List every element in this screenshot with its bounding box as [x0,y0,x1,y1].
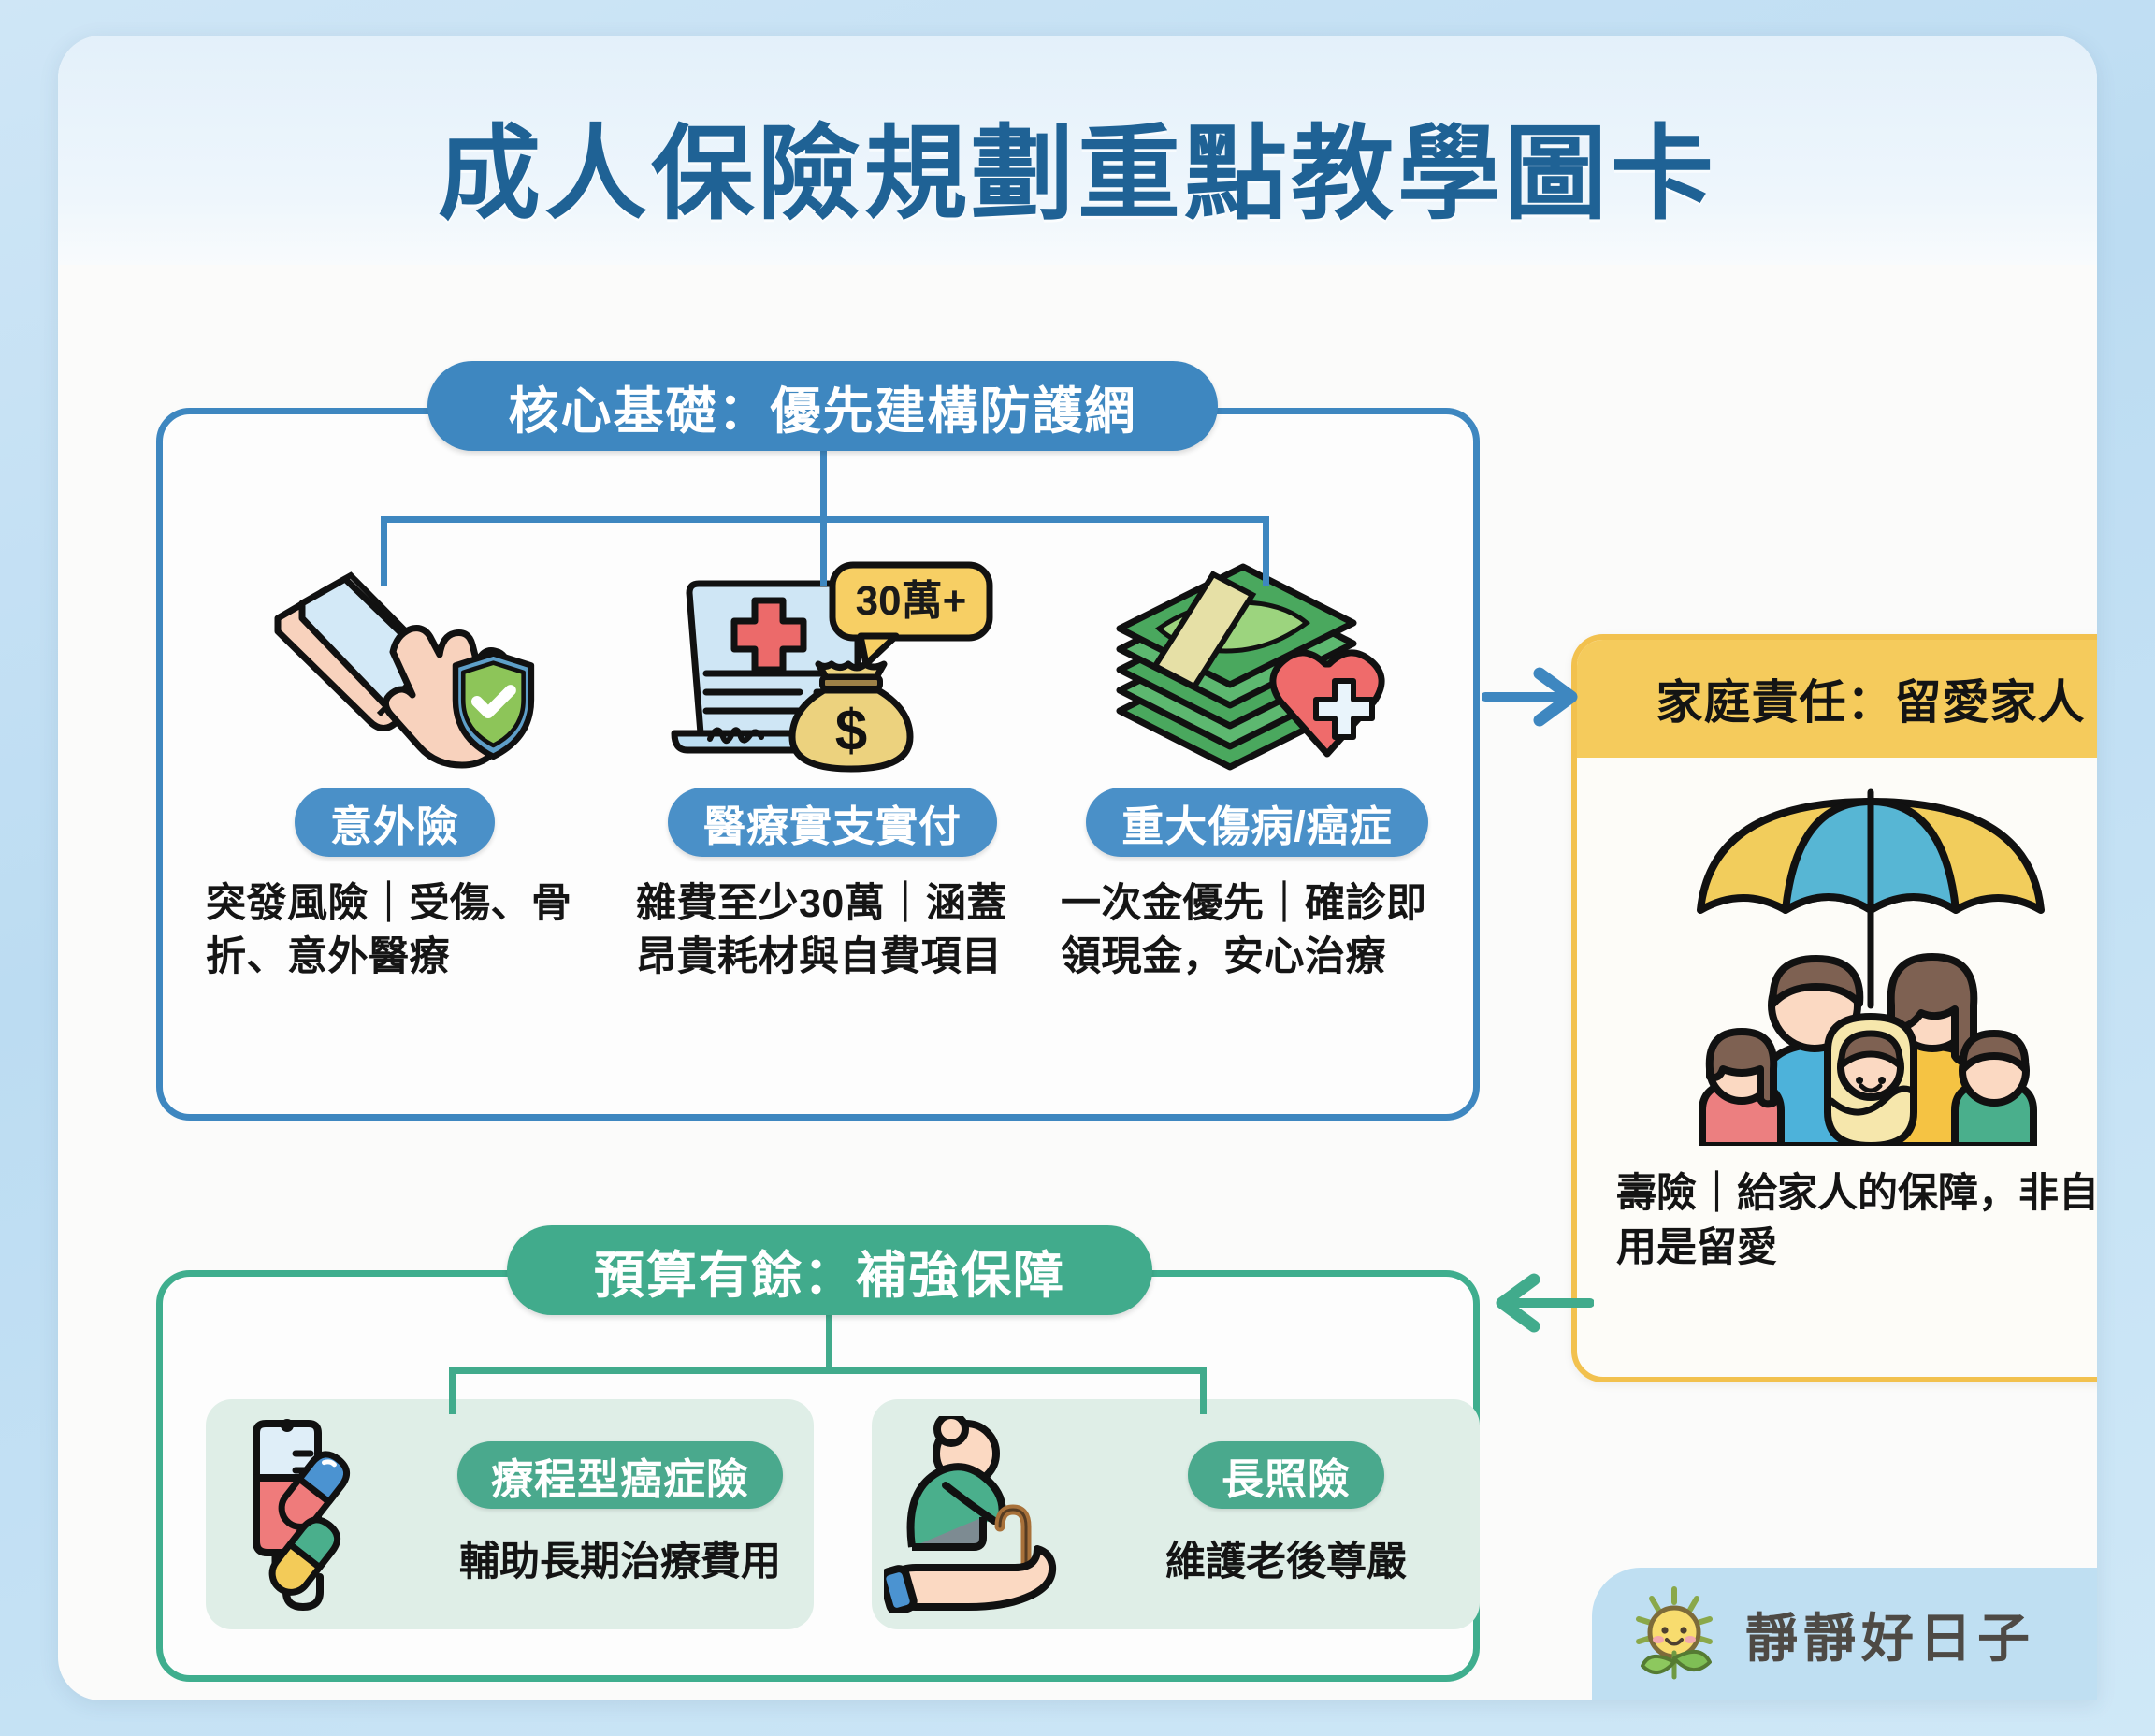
budget-desc-long-term-care: 維護老後尊嚴 [1165,1529,1407,1587]
budget-item-long-term-care: 長照險 維護老後尊嚴 [872,1399,1480,1629]
core-section-header: 核心基礎：優先建構防護網 [427,361,1218,451]
budget-connector-stem [826,1315,832,1373]
core-pill-critical-illness: 重大傷病/癌症 [1086,788,1428,857]
iv-drip-pills-icon [206,1416,427,1613]
infographic-card: 成人保險規劃重點教學圖卡 核心基礎：優先建構防護網 [58,36,2097,1700]
medical-amount-badge: 30萬+ [856,578,967,624]
core-pill-medical: 醫療實支實付 [668,788,997,857]
budget-text-long-term-care: 長照險 維護老後尊嚴 [1092,1441,1480,1587]
family-card-header: 家庭責任：留愛家人 [1577,640,2097,758]
core-desc-accident: 突發風險｜受傷、骨折、意外醫療 [189,877,600,984]
arrow-core-to-family-icon [1482,664,1594,730]
core-desc-medical: 雜費至少30萬｜涵蓋昂貴耗材與自費項目 [627,877,1038,984]
core-connector-stem [820,451,827,522]
core-item-accident: 意外險 突發風險｜受傷、骨折、意外醫療 [189,559,600,984]
budget-pill-long-term-care: 長照險 [1188,1441,1384,1509]
medical-bill-money-bag-icon: $ 30萬+ [669,559,996,773]
page-title: 成人保險規劃重點教學圖卡 [58,90,2097,239]
family-under-umbrella-icon [1577,758,2097,1160]
svg-text:$: $ [835,699,867,763]
smiling-sun-sprout-icon [1631,1584,1721,1685]
budget-connector-bar [449,1367,1207,1374]
bandaged-arm-shield-icon [240,559,549,773]
budget-desc-cancer-treatment: 輔助長期治療費用 [459,1529,781,1587]
brand-footer: 靜靜好日子 [1592,1568,2097,1700]
brand-name: 靜靜好日子 [1745,1597,2035,1672]
core-connector-drop-1 [381,516,387,586]
core-item-medical: $ 30萬+ 醫療實支實付 雜費至少30萬｜涵蓋昂貴耗材與自費項目 [627,559,1038,984]
core-connector-drop-2 [820,516,827,586]
core-desc-critical-illness: 一次金優先｜確診即領現金，安心治療 [1051,877,1463,984]
core-pill-accident: 意外險 [295,788,495,857]
budget-text-cancer-treatment: 療程型癌症險 輔助長期治療費用 [427,1441,814,1587]
core-connector-drop-3 [1263,516,1269,586]
budget-section-header: 預算有餘：補強保障 [507,1225,1152,1315]
elderly-cane-hand-icon [872,1416,1092,1613]
core-item-critical-illness: 重大傷病/癌症 一次金優先｜確診即領現金，安心治療 [1051,559,1463,984]
arrow-family-to-budget-icon [1482,1270,1594,1336]
cash-stack-heart-icon [1103,559,1411,773]
budget-pill-cancer-treatment: 療程型癌症險 [457,1441,783,1509]
budget-connector-drop-2 [1200,1367,1207,1414]
family-card-desc: 壽險｜給家人的保障，非自用是留愛 [1577,1160,2097,1275]
family-responsibility-card: 家庭責任：留愛家人 [1571,634,2097,1382]
budget-item-cancer-treatment: 療程型癌症險 輔助長期治療費用 [206,1399,814,1629]
budget-connector-drop-1 [449,1367,456,1414]
